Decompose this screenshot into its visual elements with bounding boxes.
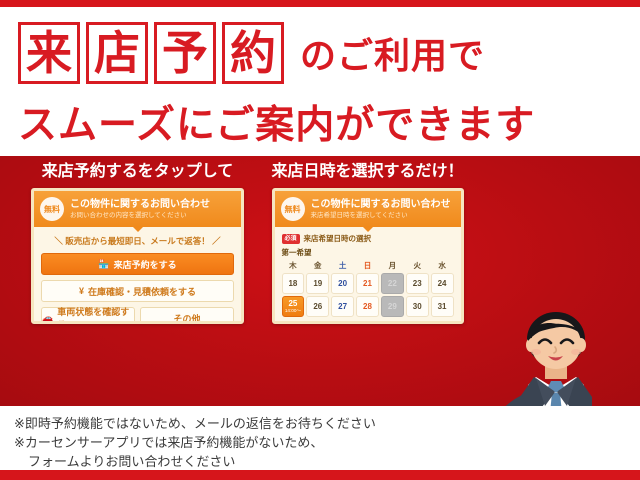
reserve-visit-label: 来店予約をする (114, 258, 177, 271)
free-badge: 無料 (40, 197, 64, 221)
header-notch (133, 227, 143, 232)
required-badge: 必須 (282, 234, 300, 244)
car-icon: 🚗 (42, 314, 53, 323)
headline-line-2: スムーズにご案内ができます (18, 95, 622, 149)
vehicle-condition-label: 車両状態を確認する (57, 305, 134, 324)
calendar-day[interactable]: 28 (356, 296, 379, 317)
calendar-day-headers: 木 金 土 日 月 火 水 (282, 261, 454, 271)
footer-note-3: フォームよりお問い合わせください (14, 452, 444, 471)
calendar-body: 必須 来店希望日時の選択 第一希望 木 金 土 日 月 火 水 18 (275, 227, 461, 322)
other-label: その他 (173, 312, 200, 325)
calendar-header-subtitle: 来店希望日時を選択してください (311, 211, 455, 220)
kanji-box-3: 予 (154, 22, 216, 84)
dow-thu: 木 (282, 261, 305, 271)
inquiry-form-card: 無料 この物件に関するお問い合わせ お問い合わせの内容を選択してください ＼ 販… (31, 188, 244, 324)
dow-sun: 日 (356, 261, 379, 271)
kanji-box-4: 約 (222, 22, 284, 84)
dow-fri: 金 (306, 261, 329, 271)
preference-label: 第一希望 (282, 247, 454, 258)
inquiry-card-body: ＼ 販売店から最短即日、メールで返答！ ／ 🏪 来店予約をする ¥ 在庫確認・見… (34, 227, 241, 324)
required-label: 来店希望日時の選択 (304, 233, 372, 244)
kanji-box-1: 来 (18, 22, 80, 84)
calendar-day[interactable]: 26 (306, 296, 329, 317)
dow-tue: 火 (406, 261, 429, 271)
inquiry-header-title: この物件に関するお問い合わせ (70, 199, 235, 211)
footer-notes: ※即時予約機能ではないため、メールの返信をお待ちください ※カーセンサーアプリで… (14, 414, 444, 471)
vehicle-condition-button[interactable]: 🚗 車両状態を確認する (41, 307, 135, 324)
calendar-day-disabled: 29 (381, 296, 404, 317)
left-column: 来店予約するをタップして 無料 この物件に関するお問い合わせ お問い合わせの内容… (20, 160, 255, 324)
kanji-box-2: 店 (86, 22, 148, 84)
top-red-rule (0, 0, 640, 7)
store-icon: 🏪 (98, 260, 109, 269)
calendar-day[interactable]: 24 (431, 273, 454, 294)
left-column-title: 来店予約するをタップして (20, 160, 255, 184)
calendar-day-disabled: 22 (381, 273, 404, 294)
inquiry-lead-text: ＼ 販売店から最短即日、メールで返答！ ／ (41, 235, 234, 247)
other-button[interactable]: その他 (140, 307, 234, 324)
red-content-panel: 来店予約するをタップして 無料 この物件に関するお問い合わせ お問い合わせの内容… (0, 156, 640, 406)
reserve-visit-button[interactable]: 🏪 来店予約をする (41, 253, 234, 275)
bottom-red-rule (0, 470, 640, 480)
header-notch-calendar (363, 227, 373, 232)
calendar-day[interactable]: 18 (282, 273, 305, 294)
right-column-title: 来店日時を選択するだけ！ (265, 160, 470, 184)
dow-sat: 土 (331, 261, 354, 271)
right-column: 来店日時を選択するだけ！ 無料 この物件に関するお問い合わせ 来店希望日時を選択… (265, 160, 470, 324)
calendar-day[interactable]: 19 (306, 273, 329, 294)
footer-note-2: ※カーセンサーアプリでは来店予約機能がないため、 (14, 433, 444, 452)
inquiry-header-subtitle: お問い合わせの内容を選択してください (70, 211, 235, 220)
free-badge-calendar: 無料 (281, 197, 305, 221)
secondary-button-row: 🚗 車両状態を確認する その他 (41, 307, 234, 324)
footer-band: ※即時予約機能ではないため、メールの返信をお待ちください ※カーセンサーアプリで… (0, 406, 640, 470)
calendar-card: 無料 この物件に関するお問い合わせ 来店希望日時を選択してください 必須 来店希… (272, 188, 464, 324)
calendar-card-header: 無料 この物件に関するお問い合わせ 来店希望日時を選択してください (275, 191, 461, 227)
calendar-header-title: この物件に関するお問い合わせ (311, 199, 455, 211)
yen-icon: ¥ (79, 287, 84, 296)
stock-quote-button[interactable]: ¥ 在庫確認・見積依頼をする (41, 280, 234, 302)
promo-banner: 来 店 予 約 のご利用で スムーズにご案内ができます 来店予約するをタップして… (0, 0, 640, 480)
calendar-day[interactable]: 30 (406, 296, 429, 317)
dow-mon: 月 (381, 261, 404, 271)
calendar-day[interactable]: 20 (331, 273, 354, 294)
headline-tail: のご利用で (300, 27, 485, 79)
footer-note-1: ※即時予約機能ではないため、メールの返信をお待ちください (14, 414, 444, 433)
calendar-day[interactable]: 27 (331, 296, 354, 317)
calendar-day[interactable]: 21 (356, 273, 379, 294)
calendar-day[interactable]: 31 (431, 296, 454, 317)
required-row: 必須 来店希望日時の選択 (282, 233, 454, 244)
calendar-week-1: 18 19 20 21 22 23 24 (282, 273, 454, 294)
stock-quote-label: 在庫確認・見積依頼をする (88, 285, 196, 298)
calendar-week-2: 25 14:00～ 26 27 28 29 30 31 (282, 296, 454, 317)
calendar-day[interactable]: 23 (406, 273, 429, 294)
dow-wed: 水 (431, 261, 454, 271)
calendar-day-selected[interactable]: 25 14:00～ (282, 296, 305, 317)
headline-line-1: 来 店 予 約 のご利用で (18, 17, 622, 89)
inquiry-card-header: 無料 この物件に関するお問い合わせ お問い合わせの内容を選択してください (34, 191, 241, 227)
header-band: 来 店 予 約 のご利用で スムーズにご案内ができます (0, 7, 640, 156)
